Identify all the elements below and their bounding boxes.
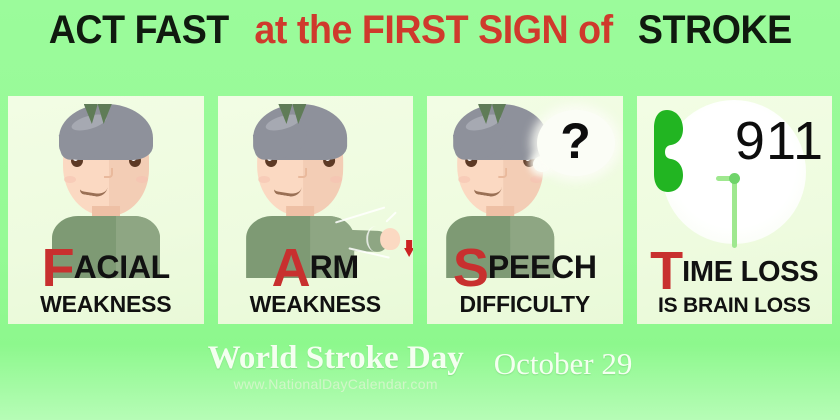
panel-facial-weakness[interactable]: FACIAL WEAKNESS <box>8 96 204 324</box>
observance-date: October 29 <box>494 342 633 379</box>
cheek-right <box>330 176 342 183</box>
panel-arm-weakness[interactable]: ARM WEAKNESS <box>218 96 414 324</box>
drop-cap-letter: A <box>272 238 310 298</box>
panel-caption: SPEECH DIFFICULTY <box>427 242 623 318</box>
nose <box>498 168 507 178</box>
nose <box>104 168 113 178</box>
brand-title: World Stroke Day <box>208 342 464 375</box>
caption-word-rest: ACIAL <box>74 249 170 285</box>
brand-url[interactable]: www.NationalDayCalendar.com <box>208 376 464 392</box>
caption-line-2: WEAKNESS <box>8 291 204 318</box>
phone-handset-icon <box>653 108 699 194</box>
title-part-first-sign: at the FIRST SIGN of <box>255 8 613 53</box>
caption-line-2: WEAKNESS <box>218 291 414 318</box>
title-part-stroke: STROKE <box>638 8 792 53</box>
clock-center-pin <box>729 173 740 184</box>
cheek-left <box>258 176 270 183</box>
panel-caption: TIME LOSS IS BRAIN LOSS <box>637 245 833 318</box>
stroke-awareness-poster: ACT FAST at the FIRST SIGN of STROKE <box>0 0 840 420</box>
page-title: ACT FAST at the FIRST SIGN of STROKE <box>0 4 840 56</box>
panel-time-loss[interactable]: 911 TIME LOSS IS BRAIN LOSS <box>637 96 833 324</box>
caption-line-1: SPEECH <box>427 242 623 295</box>
cheek-left <box>64 176 76 183</box>
nose <box>298 168 307 178</box>
face-droop-icon <box>44 102 168 252</box>
panel-speech-difficulty[interactable]: ? SPEECH DIFFICULTY <box>427 96 623 324</box>
motion-line <box>386 211 397 222</box>
question-mark-glyph: ? <box>537 110 615 176</box>
fast-panels-row: FACIAL WEAKNESS <box>8 96 832 324</box>
caption-word-rest: RM <box>310 249 359 285</box>
caption-word-rest: IME LOSS <box>682 256 818 288</box>
drop-cap-letter: F <box>42 238 74 298</box>
motion-line <box>335 206 385 223</box>
clock-hands-icon <box>716 176 776 256</box>
minute-hand <box>732 176 737 248</box>
brand-block: World Stroke Day www.NationalDayCalendar… <box>208 342 464 392</box>
drop-cap-letter: T <box>650 241 682 301</box>
emergency-number: 911 <box>735 114 824 168</box>
cheek-right <box>530 176 542 183</box>
drop-cap-letter: S <box>453 238 488 298</box>
footer: World Stroke Day www.NationalDayCalendar… <box>0 336 840 402</box>
caption-line-1: FACIAL <box>8 242 204 295</box>
caption-word-rest: PEECH <box>488 249 597 285</box>
panel-caption: FACIAL WEAKNESS <box>8 242 204 318</box>
cheek-left <box>458 176 470 183</box>
caption-line-2: IS BRAIN LOSS <box>637 294 833 318</box>
panel-caption: ARM WEAKNESS <box>218 242 414 318</box>
speech-bubble-icon: ? <box>537 110 615 176</box>
caption-line-1: ARM <box>218 242 414 295</box>
arm-drop-icon <box>238 102 362 252</box>
caption-line-1: TIME LOSS <box>637 245 833 298</box>
cheek-right <box>136 176 148 183</box>
title-part-act-fast: ACT FAST <box>49 8 229 53</box>
